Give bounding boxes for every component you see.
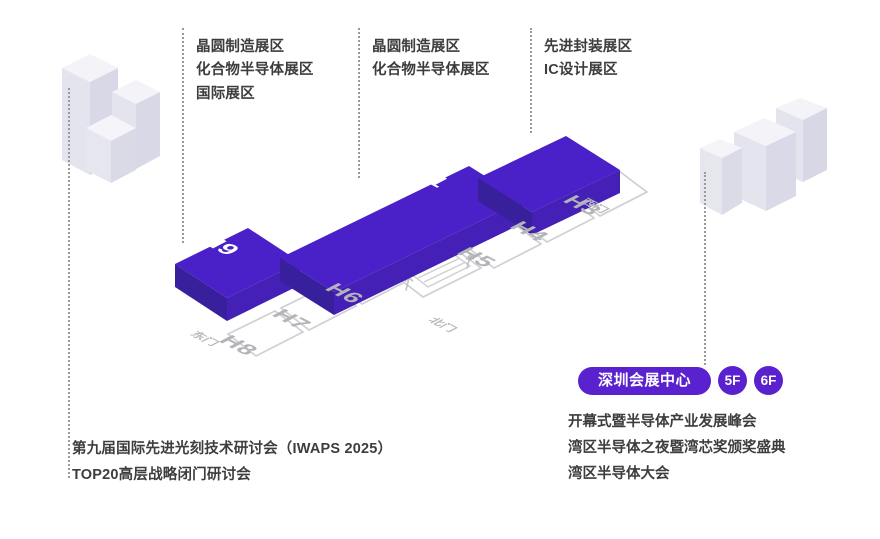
- bottom-left-event-line-2: TOP20高层战略闭门研讨会: [72, 463, 392, 489]
- bottom-right-event-line-2: 湾区半导体之夜暨湾芯奖颁奖盛典: [568, 436, 786, 462]
- bottom-left-event-line-1: 第九届国际先进光刻技术研讨会（IWAPS 2025）: [72, 437, 392, 463]
- venue-badge-row: 深圳会展中心 5F 6F: [578, 366, 783, 395]
- bottom-right-event-list: 开幕式暨半导体产业发展峰会 湾区半导体之夜暨湾芯奖颁奖盛典 湾区半导体大会: [568, 410, 786, 487]
- floor-badge-6f[interactable]: 6F: [754, 366, 783, 395]
- venue-badge[interactable]: 深圳会展中心: [578, 367, 711, 395]
- bottom-right-event-line-3: 湾区半导体大会: [568, 462, 786, 488]
- bottom-right-event-line-1: 开幕式暨半导体产业发展峰会: [568, 410, 786, 436]
- exhibition-map-canvas: 晶圆制造展区 化合物半导体展区 国际展区 晶圆制造展区 化合物半导体展区 先进封…: [0, 0, 880, 539]
- bottom-left-event-list: 第九届国际先进光刻技术研讨会（IWAPS 2025） TOP20高层战略闭门研讨…: [72, 437, 392, 489]
- floor-badge-5f[interactable]: 5F: [718, 366, 747, 395]
